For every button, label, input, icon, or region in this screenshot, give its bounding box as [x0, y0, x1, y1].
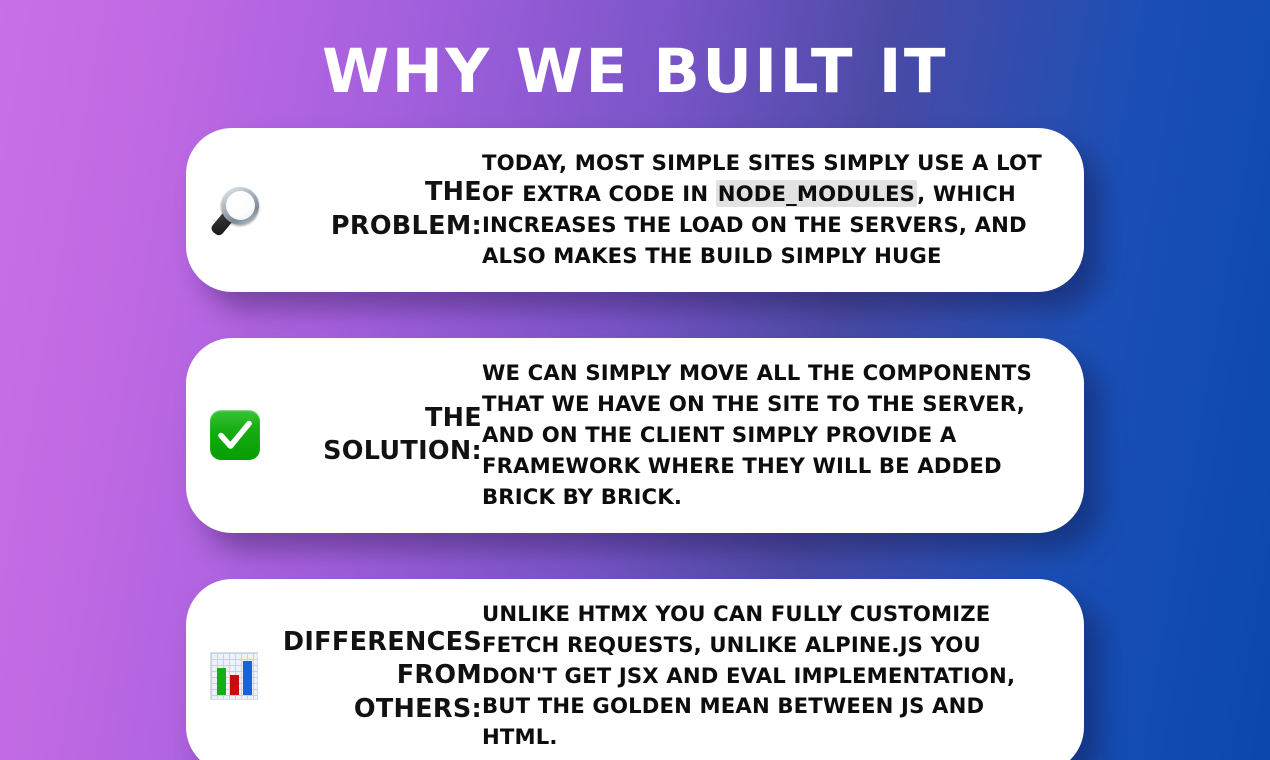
bar-chart-bar-red: [230, 675, 239, 695]
bar-chart-bar-green: [217, 668, 226, 695]
bar-chart-icon: [210, 652, 258, 700]
magnifier-lens: [226, 191, 255, 220]
bar-chart-bar-blue: [243, 661, 252, 695]
card-label: DIFFERENCES FROM OTHERS:: [272, 626, 482, 727]
card-the-solution: THE SOLUTION: WE CAN SIMPLY MOVE ALL THE…: [186, 338, 1084, 533]
card-header: DIFFERENCES FROM OTHERS:: [206, 626, 482, 727]
card-label: THE PROBLEM:: [270, 176, 482, 243]
card-the-problem: THE PROBLEM: TODAY, MOST SIMPLE SITES SI…: [186, 128, 1084, 292]
presentation-slide: WHY WE BUILT IT THE PROBLEM: TODAY, MOST…: [0, 0, 1270, 760]
card-body: UNLIKE HTMX YOU CAN FULLY CUSTOMIZE FETC…: [482, 599, 1060, 754]
card-body: TODAY, MOST SIMPLE SITES SIMPLY USE A LO…: [482, 148, 1060, 272]
white-check-mark-icon: [210, 410, 260, 460]
card-header: THE PROBLEM:: [206, 176, 482, 243]
magnifying-glass-icon: [210, 185, 262, 237]
card-list: THE PROBLEM: TODAY, MOST SIMPLE SITES SI…: [186, 128, 1084, 760]
inline-code: NODE_MODULES: [716, 180, 917, 207]
page-title: WHY WE BUILT IT: [322, 40, 948, 104]
card-body: WE CAN SIMPLY MOVE ALL THE COMPONENTS TH…: [482, 358, 1060, 513]
card-header: THE SOLUTION:: [206, 402, 482, 469]
card-label: THE SOLUTION:: [268, 402, 482, 469]
bar-chart-plot: [210, 652, 258, 700]
card-differences-from-others: DIFFERENCES FROM OTHERS: UNLIKE HTMX YOU…: [186, 579, 1084, 760]
